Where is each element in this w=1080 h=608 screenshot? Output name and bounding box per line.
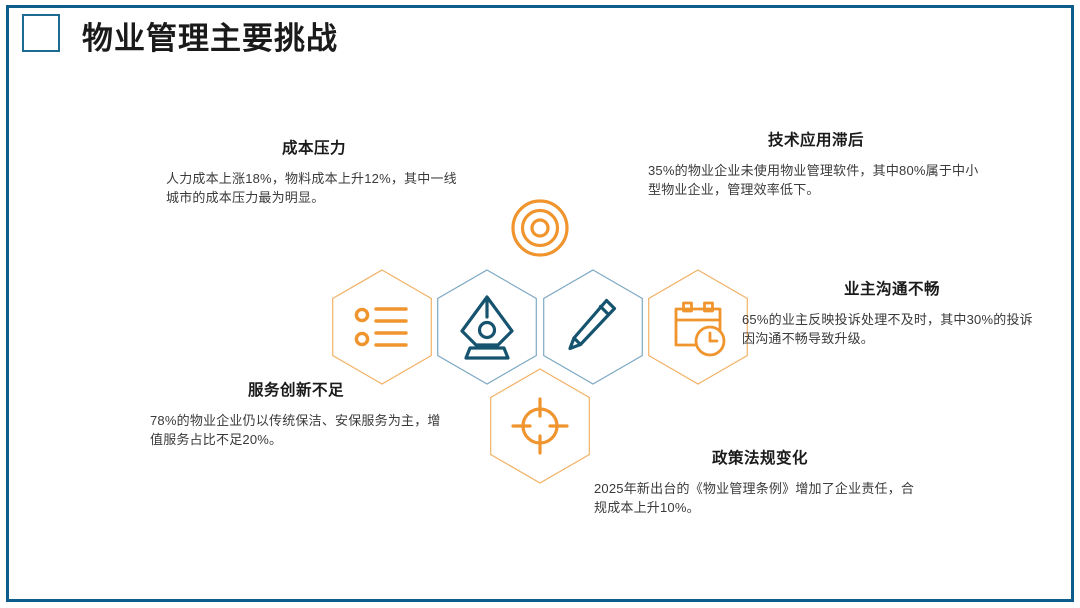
- callout-policy-body: 2025年新出台的《物业管理条例》增加了企业责任，合规成本上升10%。: [594, 479, 926, 517]
- hex-left-outline: [333, 270, 432, 384]
- title-decoration: [22, 14, 70, 62]
- callout-service: 服务创新不足 78%的物业企业仍以传统保洁、安保服务为主，增值服务占比不足20%…: [150, 380, 442, 449]
- square-fill-icon: [31, 23, 70, 62]
- pencil-icon: [570, 301, 615, 349]
- callout-owner-body: 65%的业主反映投诉处理不及时，其中30%的投诉因沟通不畅导致升级。: [742, 310, 1042, 348]
- calendar-clock-icon: [676, 303, 724, 355]
- hex-top[interactable]: [491, 171, 590, 285]
- callout-tech-body: 35%的物业企业未使用物业管理软件，其中80%属于中小型物业企业，管理效率低下。: [648, 161, 984, 199]
- callout-cost-title: 成本压力: [166, 138, 462, 160]
- slide-canvas: 物业管理主要挑战: [0, 0, 1080, 608]
- hex-right-outline: [649, 270, 748, 384]
- callout-service-body: 78%的物业企业仍以传统保洁、安保服务为主，增值服务占比不足20%。: [150, 411, 442, 449]
- page-title: 物业管理主要挑战: [82, 10, 338, 68]
- callout-cost-body: 人力成本上涨18%，物料成本上升12%，其中一线城市的成本压力最为明显。: [166, 169, 462, 207]
- callout-tech: 技术应用滞后 35%的物业企业未使用物业管理软件，其中80%属于中小型物业企业，…: [648, 130, 984, 199]
- crosshair-icon: [513, 399, 567, 453]
- hex-left[interactable]: [333, 270, 432, 384]
- hex-center-left-outline: [438, 270, 537, 384]
- callout-service-title: 服务创新不足: [150, 380, 442, 402]
- callout-policy: 政策法规变化 2025年新出台的《物业管理条例》增加了企业责任，合规成本上升10…: [594, 448, 926, 517]
- hex-top-outline: [491, 171, 590, 285]
- hex-bottom-outline: [491, 369, 590, 483]
- hex-bottom[interactable]: [491, 369, 590, 483]
- callout-owner: 业主沟通不畅 65%的业主反映投诉处理不及时，其中30%的投诉因沟通不畅导致升级…: [742, 279, 1042, 348]
- callout-owner-title: 业主沟通不畅: [742, 279, 1042, 301]
- hex-right[interactable]: [649, 270, 748, 384]
- callout-cost: 成本压力 人力成本上涨18%，物料成本上升12%，其中一线城市的成本压力最为明显…: [166, 138, 462, 207]
- hex-center-left[interactable]: [438, 270, 537, 384]
- callout-tech-title: 技术应用滞后: [648, 130, 984, 152]
- pen-nib-icon: [462, 297, 512, 358]
- hex-center-right[interactable]: [544, 270, 643, 384]
- bullet-list-icon: [356, 309, 406, 345]
- hex-center-right-outline: [544, 270, 643, 384]
- callout-policy-title: 政策法规变化: [594, 448, 926, 470]
- bullseye-target-icon: [513, 201, 567, 255]
